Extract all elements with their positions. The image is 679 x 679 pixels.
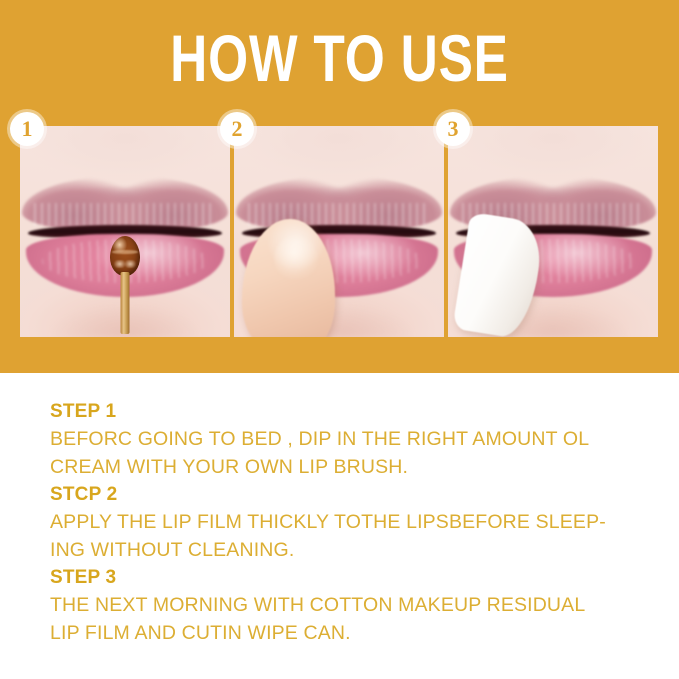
step-3-body: THE NEXT MORNING WITH COTTON MAKEUP RESI…: [50, 591, 650, 647]
upper-lip: [22, 177, 228, 232]
upper-lip: [236, 177, 442, 232]
fingernail: [274, 235, 318, 279]
photo-panel-step-2: [234, 126, 444, 337]
step-2-heading: STCP 2: [50, 481, 650, 508]
lips-photo-2: [234, 126, 444, 337]
applicator-wand-icon: [110, 236, 140, 332]
lips-photo-3: [448, 126, 658, 337]
step-3-heading: STEP 3: [50, 564, 650, 591]
page-title: HOW TO USE: [75, 24, 605, 92]
step-1-heading: STEP 1: [50, 398, 650, 425]
photo-strip: [20, 126, 658, 337]
step-badge-1: 1: [10, 112, 44, 146]
step-1-body: BEFORC GOING TO BED , DIP IN THE RIGHT A…: [50, 425, 650, 481]
lips-photo-1: [20, 126, 230, 337]
step-badge-3: 3: [436, 112, 470, 146]
step-2-body: APPLY THE LIP FILM THICKLY TOTHE LIPSBEF…: [50, 508, 650, 564]
photo-panel-step-3: [448, 126, 658, 337]
wand-bead: [110, 236, 140, 276]
how-to-use-infographic: HOW TO USE: [0, 0, 679, 679]
instructions-list: STEP 1 BEFORC GOING TO BED , DIP IN THE …: [50, 398, 650, 647]
wand-stick: [121, 272, 130, 334]
step-badge-2: 2: [220, 112, 254, 146]
photo-panel-step-1: [20, 126, 230, 337]
